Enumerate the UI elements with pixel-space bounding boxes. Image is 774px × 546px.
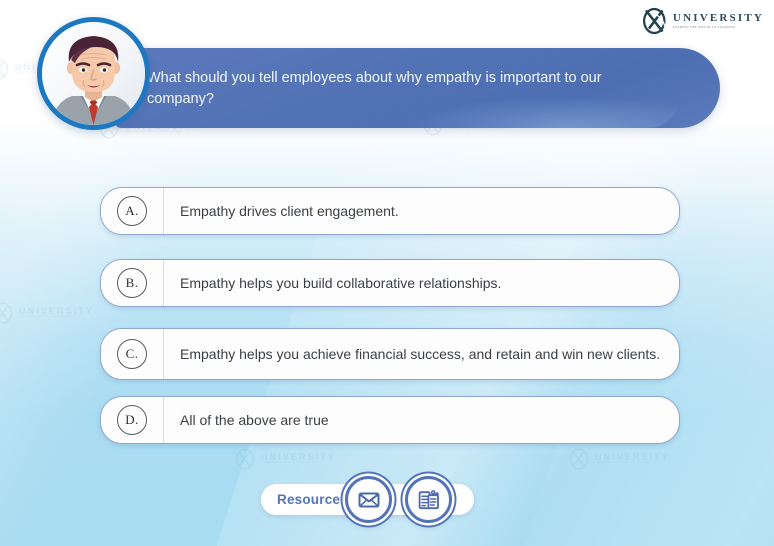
watermark-tagline: LEADING THE WAY IN CX TRAINING [125,131,200,134]
xc-monogram-icon [0,56,12,82]
resources-label: Resources [261,484,348,515]
envelope-glyph [357,488,381,512]
option-letter: D. [117,405,147,435]
xc-monogram-icon [0,300,16,326]
background-sheen [462,72,774,546]
watermark-tagline: LEADING THE WAY IN CX TRAINING [19,316,94,319]
option-letter-badge: B. [101,260,164,306]
option-text: Empathy drives client engagement. [164,188,679,234]
envelope-icon[interactable] [345,476,392,523]
answer-option-a[interactable]: A. Empathy drives client engagement. [100,187,680,235]
instructor-avatar [37,17,150,130]
background-watermark: UNIVERSITY LEADING THE WAY IN CX TRAININ… [566,446,670,472]
watermark-label: UNIVERSITY [19,307,94,316]
option-text: All of the above are true [164,397,679,443]
brand-tagline: LEADING THE WAY IN CX TRAINING [673,26,764,29]
watermark-label: UNIVERSITY [595,453,670,462]
watermark-tagline: LEADING THE WAY IN CX TRAINING [261,462,336,465]
document-notes-glyph [417,488,441,512]
xc-monogram-icon [640,6,670,36]
background-watermark: UNIVERSITY LEADING THE WAY IN CX TRAININ… [232,446,336,472]
answer-option-c[interactable]: C. Empathy helps you achieve financial s… [100,328,680,380]
brand-logo: UNIVERSITY LEADING THE WAY IN CX TRAININ… [640,6,764,36]
xc-monogram-icon [566,446,592,472]
option-letter-badge: C. [101,329,164,379]
resources-bar: Resources [261,484,474,515]
watermark-tagline: LEADING THE WAY IN CX TRAINING [595,462,670,465]
option-text: Empathy helps you build collaborative re… [164,260,679,306]
option-letter-badge: D. [101,397,164,443]
answer-option-d[interactable]: D. All of the above are true [100,396,680,444]
slide-canvas: UNIVERSITY LEADING THE WAY IN CX TRAININ… [0,0,774,546]
answer-option-b[interactable]: B. Empathy helps you build collaborative… [100,259,680,307]
option-text: Empathy helps you achieve financial succ… [164,329,679,379]
option-letter: B. [117,268,147,298]
watermark-tagline: LEADING THE WAY IN CX TRAINING [449,128,524,131]
option-letter-badge: A. [101,188,164,234]
background-watermark: UNIVERSITY LEADING THE WAY IN CX TRAININ… [0,300,94,326]
option-letter: A. [117,196,147,226]
question-text: What should you tell employees about why… [147,68,660,110]
option-letter: C. [117,339,147,369]
question-banner: What should you tell employees about why… [115,48,720,128]
brand-name: UNIVERSITY [673,13,764,25]
document-notes-icon[interactable] [405,476,452,523]
xc-monogram-icon [232,446,258,472]
watermark-label: UNIVERSITY [261,453,336,462]
